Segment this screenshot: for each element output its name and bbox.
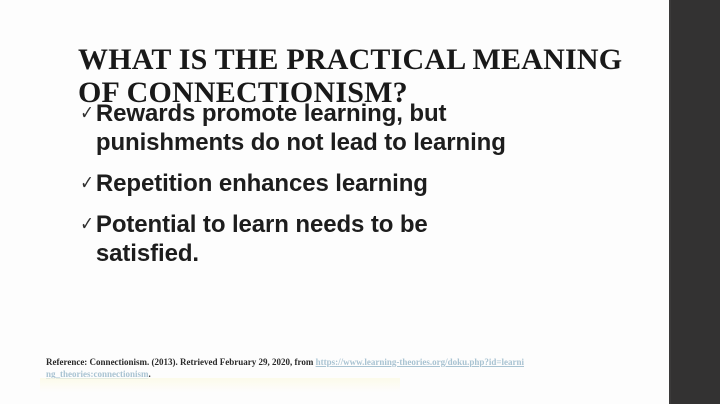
- checkmark-icon: ✓: [80, 210, 94, 239]
- list-item-label: Repetition enhances learning: [96, 169, 639, 198]
- scan-tint: [40, 378, 400, 392]
- reference-note: Reference: Connectionism. (2013). Retrie…: [46, 356, 526, 380]
- list-item: ✓ Potential to learn needs to be satisfi…: [79, 210, 639, 268]
- list-item: ✓ Repetition enhances learning: [79, 169, 639, 198]
- right-side-band-edge: [669, 0, 671, 404]
- reference-prefix: Reference: Connectionism. (2013). Retrie…: [46, 357, 316, 367]
- checkmark-icon: ✓: [80, 99, 94, 128]
- list-item-label: Potential to learn needs to be satisfied…: [96, 210, 536, 268]
- slide-frame: What is the practical meaning of connect…: [0, 0, 720, 404]
- reference-suffix: .: [149, 369, 151, 379]
- list-item-label: Rewards promote learning, but punishment…: [96, 99, 558, 157]
- list-item: ✓ Rewards promote learning, but punishme…: [79, 99, 639, 157]
- checkmark-icon: ✓: [80, 169, 94, 198]
- slide-canvas: What is the practical meaning of connect…: [0, 0, 669, 404]
- right-side-band: [669, 0, 720, 404]
- bullet-list: ✓ Rewards promote learning, but punishme…: [79, 99, 639, 280]
